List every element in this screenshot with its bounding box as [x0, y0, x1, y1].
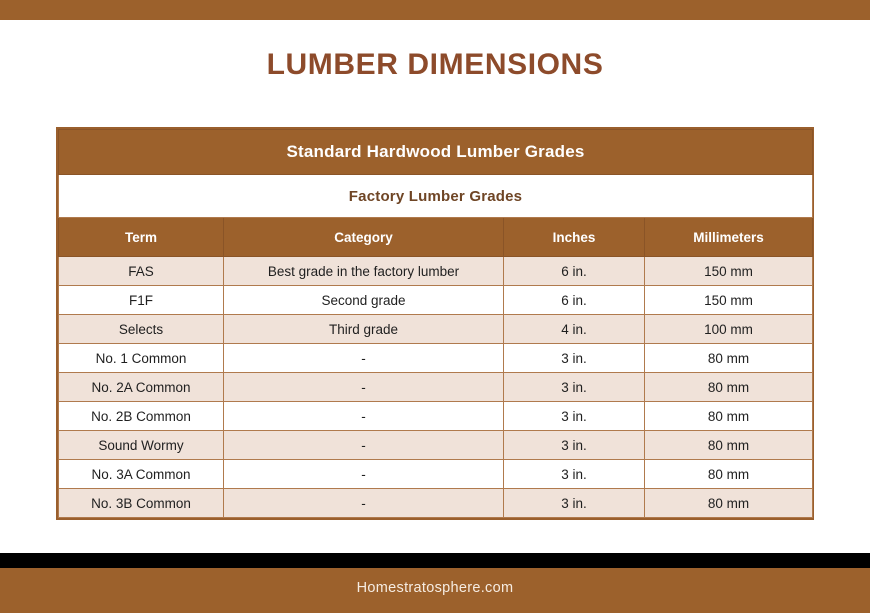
cell-term: Selects [59, 315, 224, 344]
table-row: No. 2B Common - 3 in. 80 mm [59, 402, 813, 431]
cell-term: No. 3A Common [59, 460, 224, 489]
cell-category: Third grade [224, 315, 504, 344]
infographic-page: LUMBER DIMENSIONS Standard Hardwood Lumb… [0, 0, 870, 613]
cell-category: Best grade in the factory lumber [224, 257, 504, 286]
cell-inches: 3 in. [504, 460, 645, 489]
cell-millimeters: 80 mm [645, 431, 813, 460]
table-row: No. 2A Common - 3 in. 80 mm [59, 373, 813, 402]
cell-category: - [224, 402, 504, 431]
cell-millimeters: 100 mm [645, 315, 813, 344]
table-body: Standard Hardwood Lumber Grades Factory … [59, 130, 813, 518]
lumber-grades-table: Standard Hardwood Lumber Grades Factory … [58, 129, 813, 518]
cell-term: No. 3B Common [59, 489, 224, 518]
cell-inches: 4 in. [504, 315, 645, 344]
column-header-category: Category [224, 218, 504, 257]
table-row: Selects Third grade 4 in. 100 mm [59, 315, 813, 344]
table-main-header: Standard Hardwood Lumber Grades [59, 130, 813, 175]
column-header-inches: Inches [504, 218, 645, 257]
table-row: No. 3A Common - 3 in. 80 mm [59, 460, 813, 489]
page-title: LUMBER DIMENSIONS [0, 48, 870, 82]
cell-inches: 3 in. [504, 344, 645, 373]
cell-term: No. 1 Common [59, 344, 224, 373]
table-row: No. 3B Common - 3 in. 80 mm [59, 489, 813, 518]
table-column-header-row: Term Category Inches Millimeters [59, 218, 813, 257]
cell-category: Second grade [224, 286, 504, 315]
cell-millimeters: 150 mm [645, 286, 813, 315]
cell-category: - [224, 431, 504, 460]
cell-inches: 6 in. [504, 257, 645, 286]
table-sub-header-row: Factory Lumber Grades [59, 175, 813, 218]
cell-millimeters: 80 mm [645, 460, 813, 489]
table-sub-header: Factory Lumber Grades [59, 175, 813, 218]
cell-millimeters: 80 mm [645, 344, 813, 373]
footer-credit: Homestratosphere.com [0, 580, 870, 596]
footer-black-bar [0, 553, 870, 568]
cell-term: F1F [59, 286, 224, 315]
cell-term: No. 2B Common [59, 402, 224, 431]
cell-inches: 3 in. [504, 489, 645, 518]
cell-term: FAS [59, 257, 224, 286]
cell-category: - [224, 489, 504, 518]
cell-inches: 3 in. [504, 431, 645, 460]
table-row: Sound Wormy - 3 in. 80 mm [59, 431, 813, 460]
table-main-header-row: Standard Hardwood Lumber Grades [59, 130, 813, 175]
lumber-grades-table-container: Standard Hardwood Lumber Grades Factory … [56, 127, 814, 520]
cell-category: - [224, 344, 504, 373]
cell-category: - [224, 460, 504, 489]
table-row: No. 1 Common - 3 in. 80 mm [59, 344, 813, 373]
cell-category: - [224, 373, 504, 402]
table-row: FAS Best grade in the factory lumber 6 i… [59, 257, 813, 286]
top-accent-bar [0, 0, 870, 20]
cell-millimeters: 80 mm [645, 373, 813, 402]
column-header-term: Term [59, 218, 224, 257]
cell-term: No. 2A Common [59, 373, 224, 402]
cell-millimeters: 80 mm [645, 489, 813, 518]
cell-millimeters: 150 mm [645, 257, 813, 286]
table-row: F1F Second grade 6 in. 150 mm [59, 286, 813, 315]
cell-inches: 3 in. [504, 373, 645, 402]
column-header-millimeters: Millimeters [645, 218, 813, 257]
cell-inches: 6 in. [504, 286, 645, 315]
cell-inches: 3 in. [504, 402, 645, 431]
cell-term: Sound Wormy [59, 431, 224, 460]
cell-millimeters: 80 mm [645, 402, 813, 431]
